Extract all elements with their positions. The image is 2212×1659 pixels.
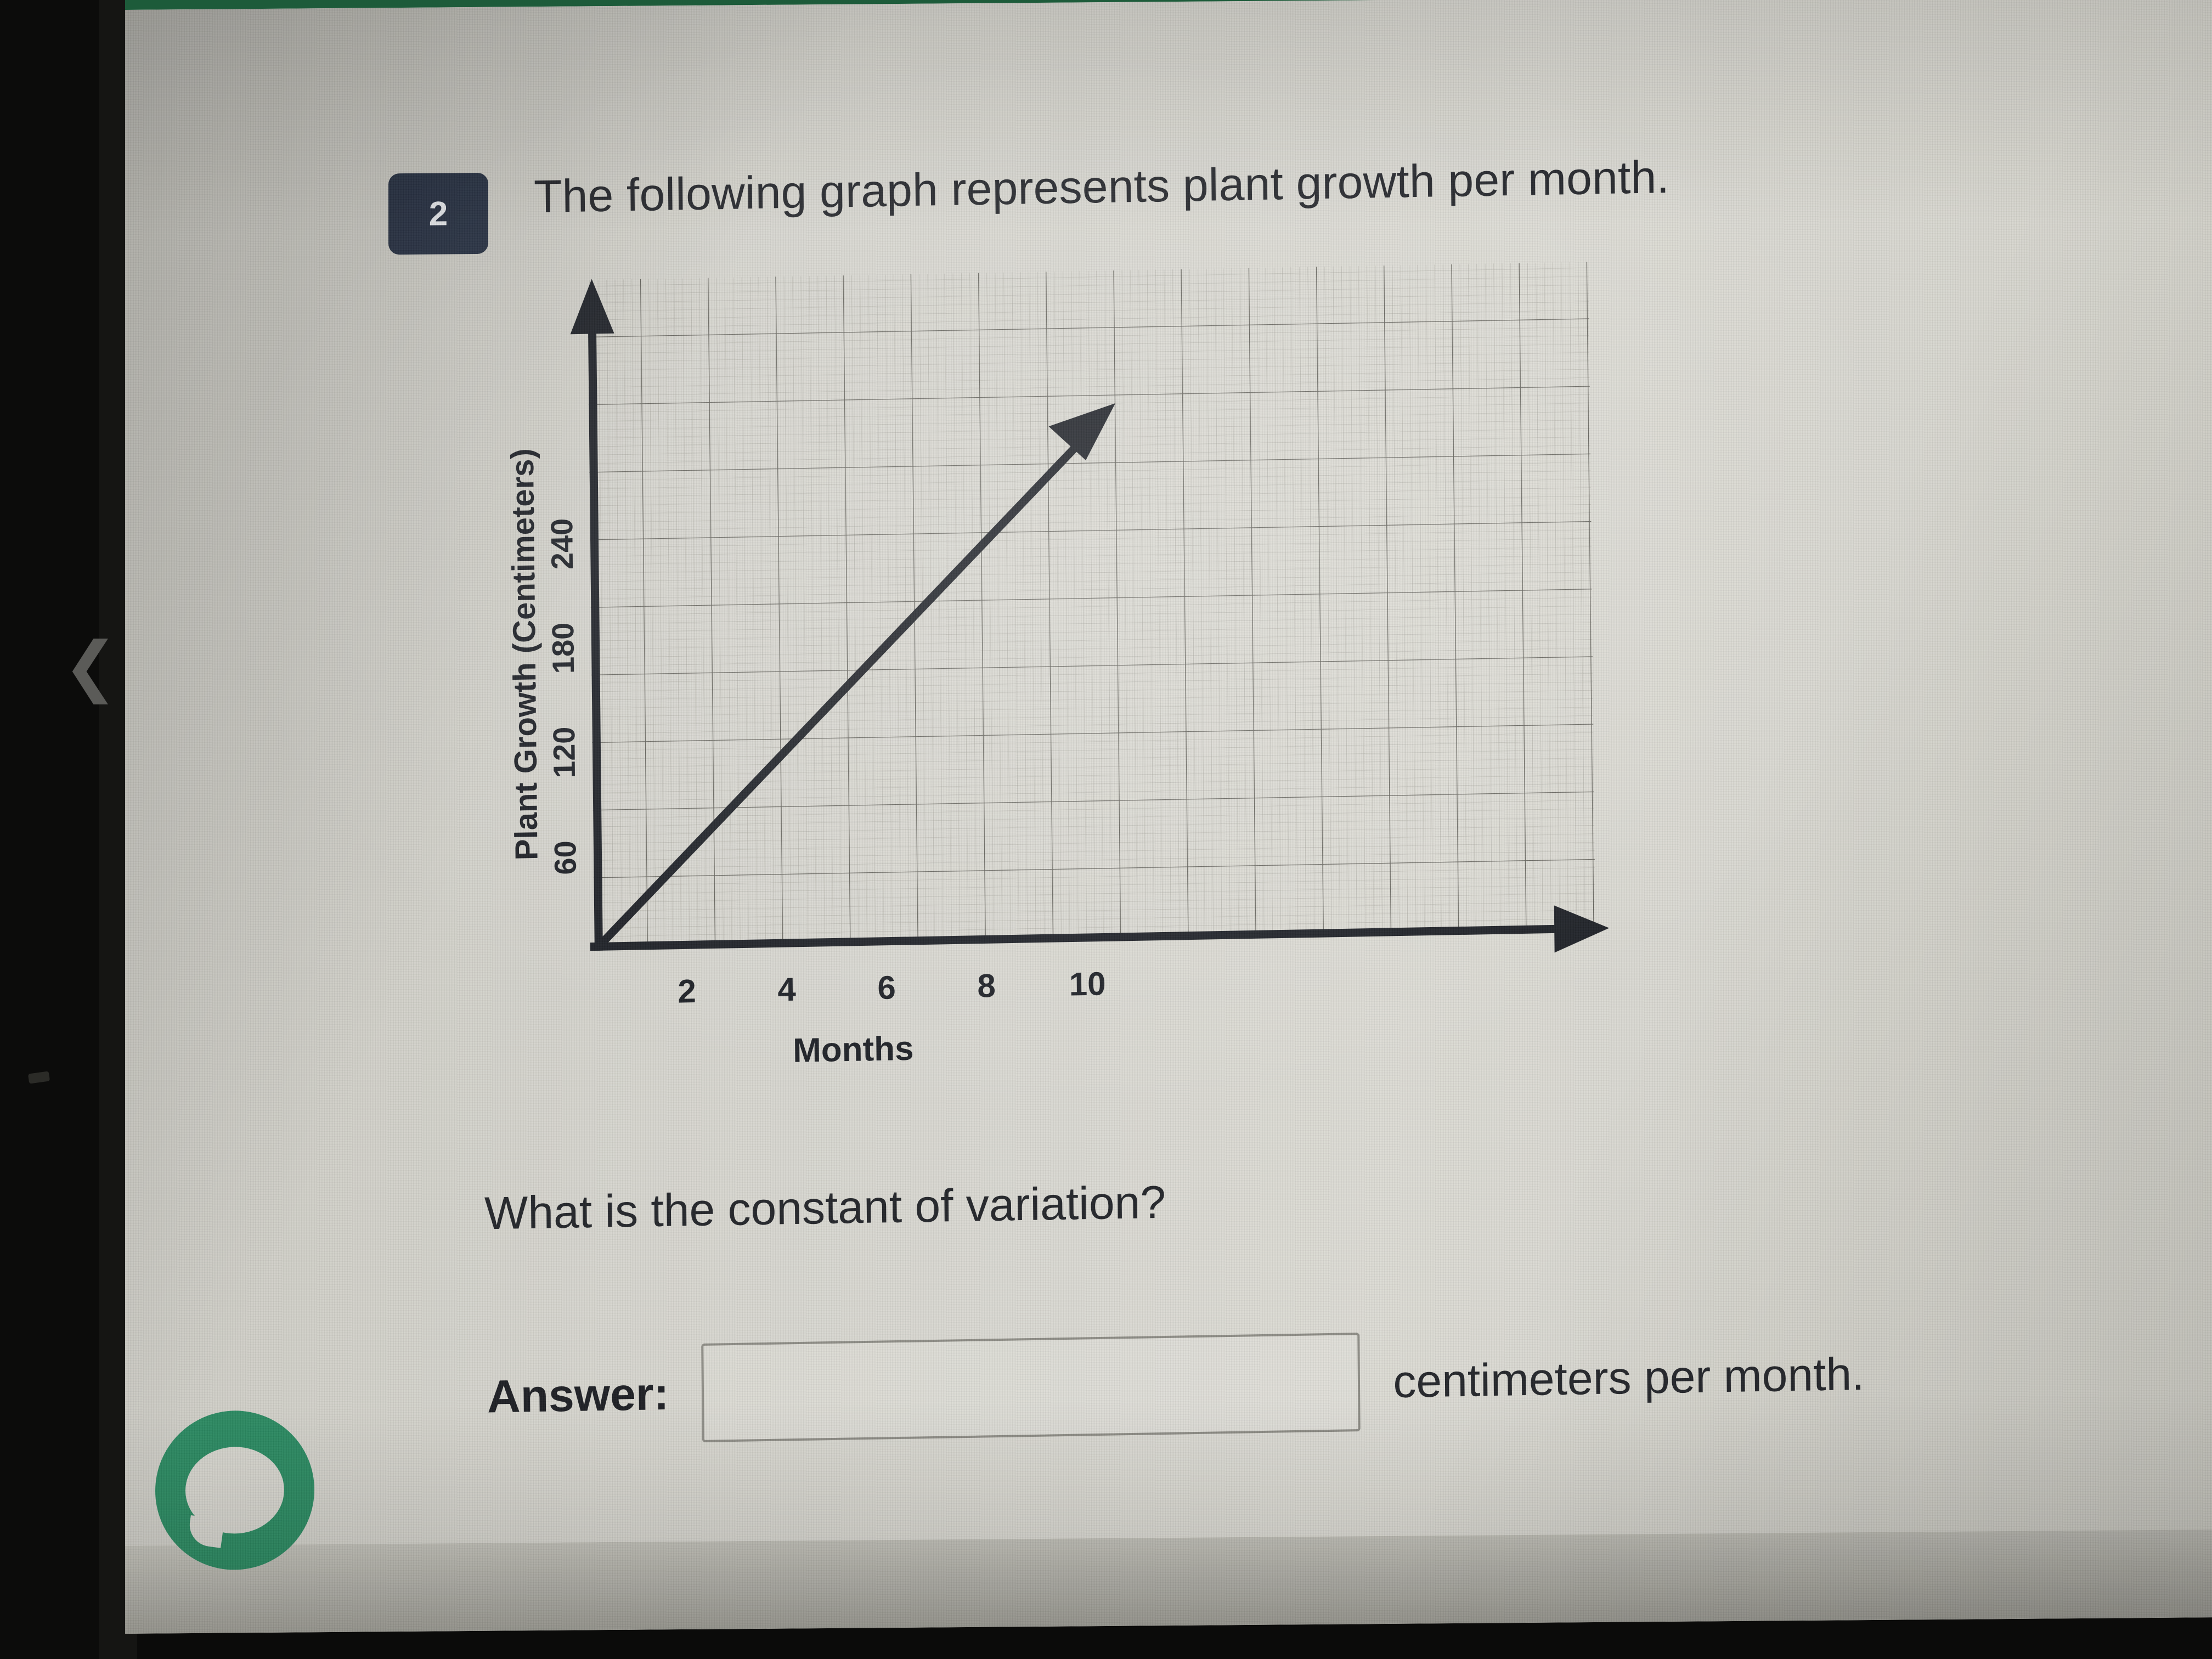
question-number-badge: 2	[388, 173, 488, 255]
answer-row: Answer: centimeters per month.	[487, 1310, 2079, 1457]
answer-label: Answer:	[487, 1367, 669, 1423]
question-number-label: 2	[429, 194, 448, 233]
x-tick-label: 2	[678, 973, 696, 1010]
device-bezel-left	[0, 0, 137, 1659]
screen-photo: ❮ 2 The following graph represents plant…	[0, 0, 2212, 1659]
plant-growth-chart: 240 180 120 60 Plant Growth (Centimeters…	[505, 250, 1643, 1077]
chevron-left-icon[interactable]: ❮	[66, 631, 115, 702]
chart-gridlines	[588, 262, 1596, 946]
chat-bubble-icon[interactable]	[155, 1410, 314, 1570]
y-tick-label: 120	[546, 726, 582, 778]
device-screen: 2 The following graph represents plant g…	[125, 0, 2212, 1634]
y-tick-label: 240	[544, 518, 579, 570]
x-tick-label: 8	[977, 967, 996, 1005]
x-tick-label: 10	[1069, 965, 1105, 1002]
y-tick-label: 180	[545, 622, 580, 674]
chat-bubble-glyph	[185, 1447, 284, 1534]
x-axis-title: Months	[793, 1030, 914, 1070]
y-tick-label: 60	[548, 840, 583, 875]
x-tick-label: 6	[877, 969, 896, 1006]
x-tick-label: 4	[777, 971, 797, 1008]
worksheet-page: 2 The following graph represents plant g…	[125, 0, 2212, 1579]
answer-unit-label: centimeters per month.	[1393, 1347, 1865, 1408]
follow-up-question: What is the constant of variation?	[484, 1165, 1802, 1240]
answer-input[interactable]	[702, 1333, 1361, 1442]
page-bottom-edge	[125, 1530, 2212, 1634]
device-bezel-inner	[0, 0, 99, 1659]
question-prompt: The following graph represents plant gro…	[534, 144, 2016, 223]
y-axis-title: Plant Growth (Centimeters)	[505, 448, 544, 861]
